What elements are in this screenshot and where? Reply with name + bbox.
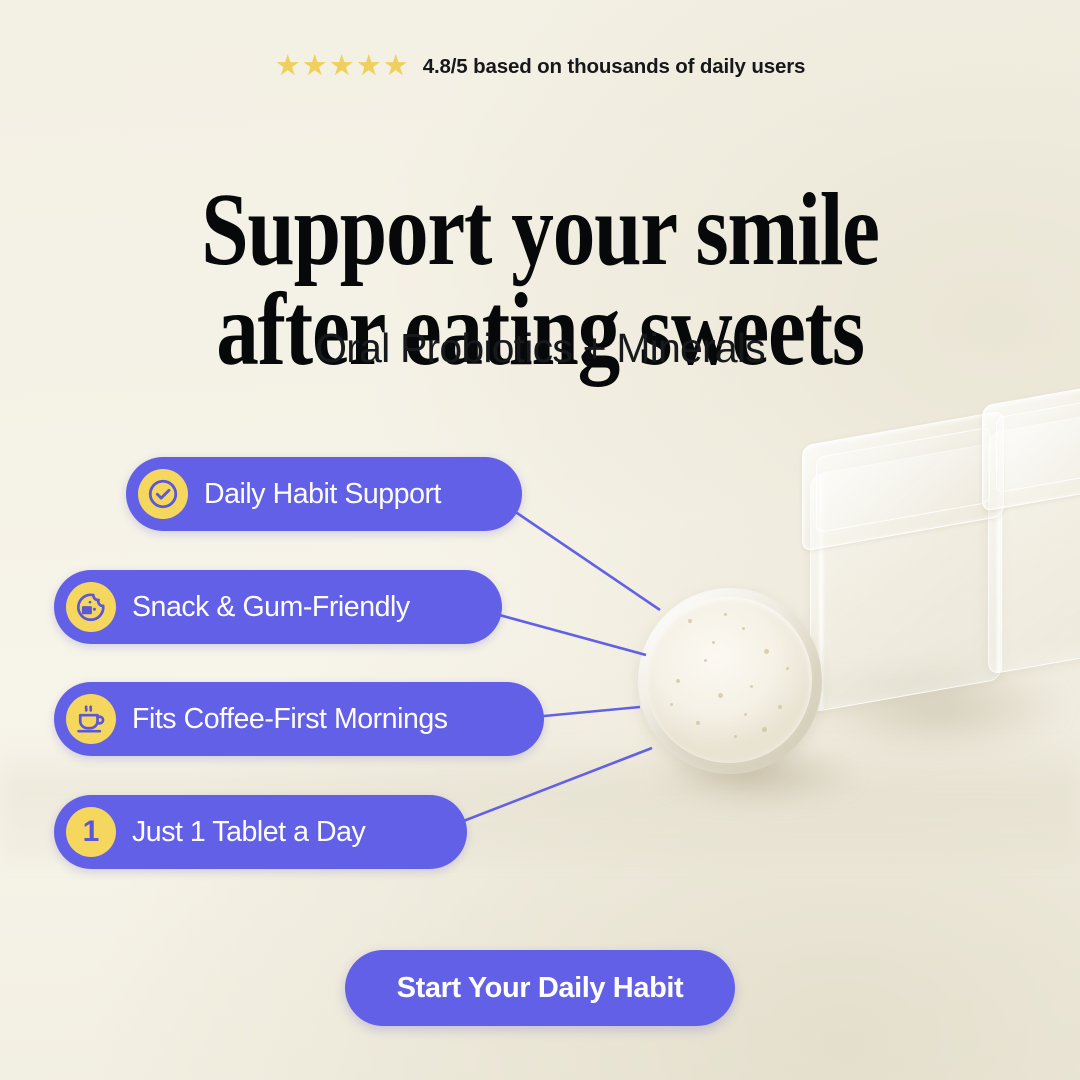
cta-label: Start Your Daily Habit — [397, 972, 684, 1005]
feature-label: Snack & Gum-Friendly — [132, 591, 410, 624]
star-icon: ★ — [329, 52, 355, 81]
feature-pill-snack-gum-friendly[interactable]: Snack & Gum-Friendly — [54, 570, 502, 644]
tablet-face — [646, 597, 812, 763]
ad-creative: ★ ★ ★ ★ ★ 4.8/5 based on thousands of da… — [0, 0, 1080, 1080]
pill-container-product — [792, 392, 1080, 792]
star-icon: ★ — [275, 52, 301, 81]
effervescent-tablet — [638, 588, 822, 774]
feature-label: Fits Coffee-First Mornings — [132, 703, 448, 736]
feature-pill-daily-habit-support[interactable]: Daily Habit Support — [126, 457, 522, 531]
feature-label: Daily Habit Support — [204, 478, 441, 511]
feature-pill-coffee-first-mornings[interactable]: Fits Coffee-First Mornings — [54, 682, 544, 756]
rating-row: ★ ★ ★ ★ ★ 4.8/5 based on thousands of da… — [0, 52, 1080, 81]
star-icon: ★ — [383, 52, 409, 81]
cookie-icon — [66, 582, 116, 632]
number-one-icon: 1 — [66, 807, 116, 857]
subheadline: Oral Probiotics + Minerals — [0, 325, 1080, 372]
feature-label: Just 1 Tablet a Day — [132, 816, 365, 849]
feature-pill-just-one-tablet-a-day[interactable]: 1 Just 1 Tablet a Day — [54, 795, 467, 869]
start-daily-habit-button[interactable]: Start Your Daily Habit — [345, 950, 735, 1026]
number-badge-value: 1 — [83, 817, 100, 847]
headline-line-1: Support your smile — [97, 180, 983, 280]
check-circle-icon — [138, 469, 188, 519]
star-icon: ★ — [356, 52, 382, 81]
star-icon: ★ — [302, 52, 328, 81]
rating-text: 4.8/5 based on thousands of daily users — [423, 55, 806, 79]
coffee-cup-icon — [66, 694, 116, 744]
star-rating: ★ ★ ★ ★ ★ — [275, 52, 409, 81]
